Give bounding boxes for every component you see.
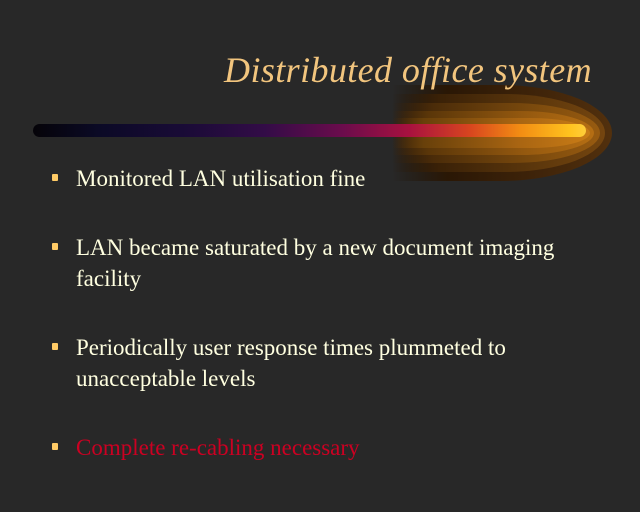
list-item: LAN became saturated by a new document i… — [0, 232, 640, 294]
comet-core — [33, 124, 586, 137]
list-item: Periodically user response times plummet… — [0, 332, 640, 394]
slide-title: Distributed office system — [0, 48, 592, 92]
bullet-point-icon — [52, 343, 58, 350]
presentation-slide: Distributed office system — [0, 0, 640, 512]
list-item-text: Complete re-cabling necessary — [76, 432, 620, 463]
list-item: Complete re-cabling necessary — [0, 432, 640, 463]
list-item-text: Periodically user response times plummet… — [76, 332, 620, 394]
bullet-point-icon — [52, 174, 58, 181]
bullet-point-icon — [52, 243, 58, 250]
bullet-point-icon — [52, 443, 58, 450]
list-item-text: Monitored LAN utilisation fine — [76, 163, 620, 194]
list-item-text: LAN became saturated by a new document i… — [76, 232, 620, 294]
bullet-list: Monitored LAN utilisation fine LAN becam… — [0, 163, 640, 463]
list-item: Monitored LAN utilisation fine — [0, 163, 640, 194]
